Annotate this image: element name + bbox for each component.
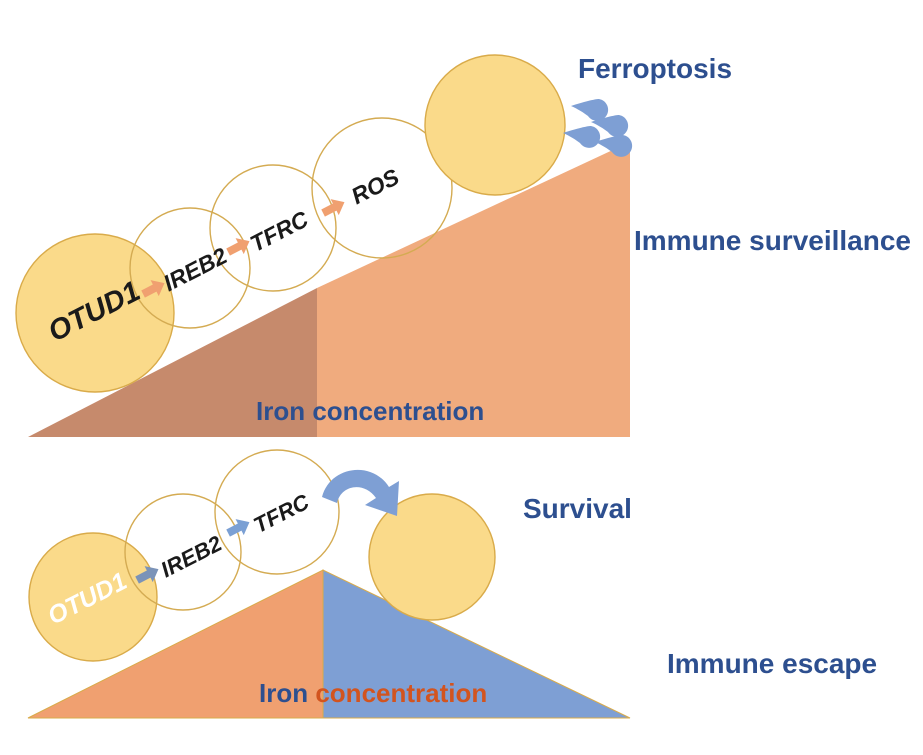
label-immune-escape: Immune escape [667, 648, 877, 679]
cell-outcome-top [425, 55, 565, 195]
node-label-ros-top: ROS [347, 163, 404, 209]
diagram-canvas: OTUD1 IREB2 TFRC ROS Ferroptosis Immune … [0, 0, 923, 755]
panel-bottom: OTUD1 IREB2 TFRC Survival Immune escape … [28, 450, 877, 718]
droplet-group-ferroptosis [563, 99, 632, 157]
arrow-tfrc-to-ros-top [319, 194, 349, 221]
droplet-icon-3 [563, 126, 600, 148]
label-survival: Survival [523, 493, 632, 524]
node-label-ireb2-bottom: IREB2 [157, 530, 227, 582]
label-immune-surveillance: Immune surveillance [634, 225, 911, 256]
axis-label-iron-concentration-bottom: Iron concentration [259, 678, 487, 708]
panel-top: OTUD1 IREB2 TFRC ROS Ferroptosis Immune … [16, 53, 911, 437]
axis-label-iron-word: Iron [259, 678, 308, 708]
figure-root: OTUD1 IREB2 TFRC ROS Ferroptosis Immune … [0, 0, 923, 755]
node-label-tfrc-bottom: TFRC [249, 489, 314, 538]
cell-outcome-bottom [369, 494, 495, 620]
node-label-ireb2-top: IREB2 [159, 242, 231, 296]
node-label-tfrc-top: TFRC [246, 206, 313, 257]
axis-label-iron-concentration-top: Iron concentration [256, 396, 484, 426]
curved-arrow-to-survival [322, 470, 399, 516]
droplet-icon-4 [595, 135, 632, 157]
droplet-icon-1 [571, 99, 608, 121]
axis-label-concentration-word: concentration [315, 678, 487, 708]
label-ferroptosis: Ferroptosis [578, 53, 732, 84]
